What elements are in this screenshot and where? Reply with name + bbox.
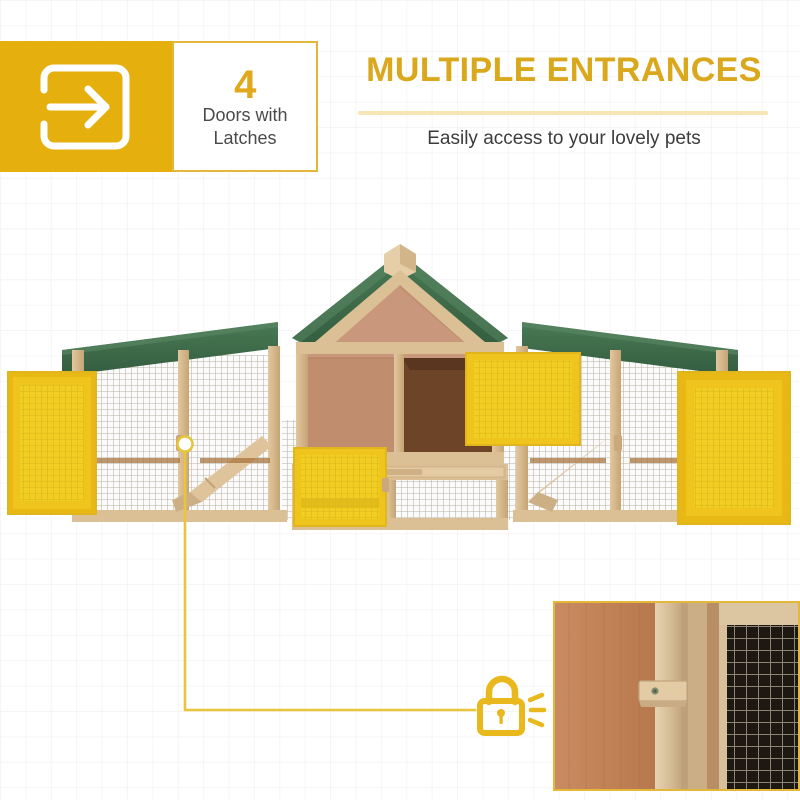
product-photo-rabbit-hutch — [0, 230, 800, 540]
enter-door-arrow-icon — [36, 58, 134, 156]
page-subtitle: Easily access to your lovely pets — [358, 128, 770, 150]
latch-closeup-photo — [553, 601, 800, 791]
badge-line-1: Doors with — [202, 104, 287, 127]
page-title: MULTIPLE ENTRANCES — [358, 53, 770, 89]
doors-count-badge: 4 Doors with Latches — [172, 41, 318, 172]
latch-turn-button — [639, 681, 687, 707]
title-divider — [358, 111, 768, 115]
badge-line-2: Latches — [213, 127, 276, 150]
badge-number: 4 — [234, 66, 256, 104]
infographic-canvas: 4 Doors with Latches MULTIPLE ENTRANCES … — [0, 0, 800, 800]
open-padlock-icon — [474, 672, 548, 738]
